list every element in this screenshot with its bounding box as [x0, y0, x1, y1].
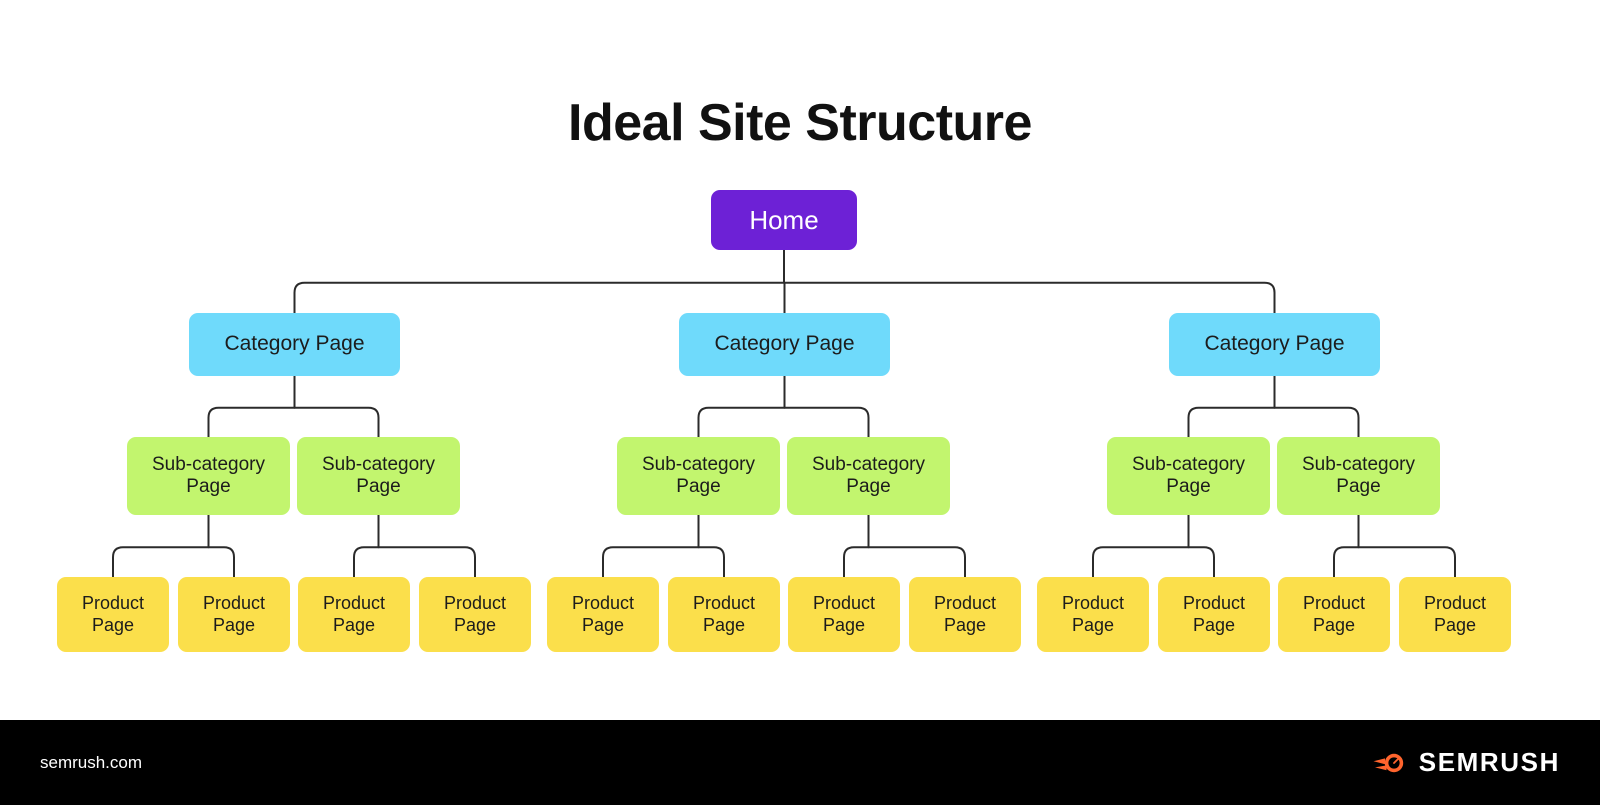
node-label: Sub-categoryPage: [812, 454, 925, 499]
node-label: Home: [749, 205, 818, 236]
node-home[interactable]: Home: [711, 190, 857, 250]
node-label: ProductPage: [444, 593, 506, 635]
node-label: Sub-categoryPage: [642, 454, 755, 499]
node-label: Sub-categoryPage: [152, 454, 265, 499]
node-product-1-1-1[interactable]: ProductPage: [57, 577, 169, 652]
node-product-1-2-2[interactable]: ProductPage: [419, 577, 531, 652]
node-category-3[interactable]: Category Page: [1169, 313, 1380, 376]
node-label: Category Page: [1204, 332, 1344, 357]
node-category-2[interactable]: Category Page: [679, 313, 890, 376]
node-label: ProductPage: [1183, 593, 1245, 635]
node-product-2-2-1[interactable]: ProductPage: [788, 577, 900, 652]
node-product-2-1-1[interactable]: ProductPage: [547, 577, 659, 652]
node-product-1-1-2[interactable]: ProductPage: [178, 577, 290, 652]
brand-name: SEMRUSH: [1419, 747, 1560, 778]
node-label: Category Page: [224, 332, 364, 357]
node-subcategory-2-2[interactable]: Sub-categoryPage: [787, 437, 950, 515]
footer-url: semrush.com: [40, 753, 142, 773]
node-product-2-2-2[interactable]: ProductPage: [909, 577, 1021, 652]
node-product-3-1-1[interactable]: ProductPage: [1037, 577, 1149, 652]
node-product-1-2-1[interactable]: ProductPage: [298, 577, 410, 652]
node-label: Category Page: [714, 332, 854, 357]
node-subcategory-3-2[interactable]: Sub-categoryPage: [1277, 437, 1440, 515]
node-label: ProductPage: [572, 593, 634, 635]
node-label: ProductPage: [203, 593, 265, 635]
node-label: Sub-categoryPage: [1302, 454, 1415, 499]
semrush-comet-icon: [1373, 748, 1407, 778]
node-subcategory-2-1[interactable]: Sub-categoryPage: [617, 437, 780, 515]
page-footer: semrush.com SEMRUSH: [0, 720, 1600, 805]
node-label: Sub-categoryPage: [322, 454, 435, 499]
node-product-3-1-2[interactable]: ProductPage: [1158, 577, 1270, 652]
node-product-3-2-2[interactable]: ProductPage: [1399, 577, 1511, 652]
node-label: ProductPage: [323, 593, 385, 635]
page-title: Ideal Site Structure: [0, 93, 1600, 153]
semrush-logo: SEMRUSH: [1373, 747, 1560, 778]
node-label: ProductPage: [1303, 593, 1365, 635]
diagram-canvas: Ideal Site Structure HomeCategory PageSu…: [0, 0, 1600, 805]
node-label: ProductPage: [693, 593, 755, 635]
node-subcategory-1-2[interactable]: Sub-categoryPage: [297, 437, 460, 515]
node-label: ProductPage: [934, 593, 996, 635]
node-subcategory-3-1[interactable]: Sub-categoryPage: [1107, 437, 1270, 515]
node-product-2-1-2[interactable]: ProductPage: [668, 577, 780, 652]
node-subcategory-1-1[interactable]: Sub-categoryPage: [127, 437, 290, 515]
node-label: ProductPage: [1424, 593, 1486, 635]
node-label: Sub-categoryPage: [1132, 454, 1245, 499]
node-product-3-2-1[interactable]: ProductPage: [1278, 577, 1390, 652]
node-label: ProductPage: [813, 593, 875, 635]
node-category-1[interactable]: Category Page: [189, 313, 400, 376]
node-label: ProductPage: [1062, 593, 1124, 635]
node-label: ProductPage: [82, 593, 144, 635]
